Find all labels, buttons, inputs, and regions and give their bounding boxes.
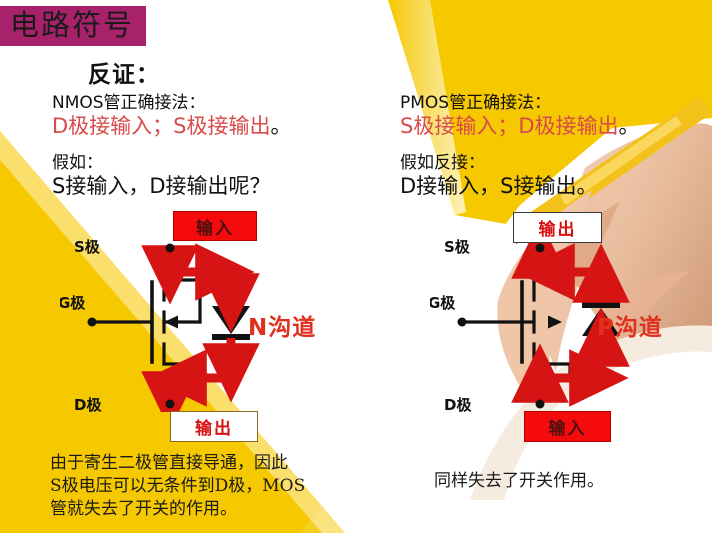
page-title-text: 电路符号	[10, 8, 134, 42]
right-line-2-a: S极接输入；	[400, 114, 518, 138]
input-box-right: 输入	[524, 411, 611, 442]
input-box-left: 输入	[173, 211, 257, 241]
nmos-symbol	[92, 280, 200, 372]
pin-label-g: G极	[60, 294, 86, 312]
page-title: 电路符号	[0, 6, 146, 46]
pin-label-d: D极	[74, 396, 102, 412]
source-node-dot	[166, 244, 175, 253]
channel-label-p: P沟道	[597, 308, 663, 342]
drain-node-dot	[536, 400, 545, 409]
right-line-2-b: D极接输出	[518, 114, 618, 138]
pin-label-s: S极	[74, 238, 101, 256]
right-line-4: D接输入，S接输出。	[400, 170, 598, 200]
parasitic-diode-n	[212, 306, 250, 340]
left-line-2-c: 。	[271, 114, 292, 138]
slide-canvas: 电路符号 反证： NMOS管正确接法： D极接输入；S极接输出。 假如： S接输…	[0, 0, 712, 533]
drain-node-dot	[166, 400, 175, 409]
left-line-2-b: S极接输出	[173, 114, 270, 138]
left-line-4: S接输入，D接输出呢？	[52, 170, 271, 200]
right-line-2: S极接输入；D极接输出。	[400, 110, 640, 140]
output-box-right: 输出	[513, 212, 602, 243]
footer-left: 由于寄生二极管直接导通，因此 S极电压可以无条件到D极，MOS 管就失去了开关的…	[50, 452, 305, 521]
footer-right: 同样失去了开关作用。	[434, 470, 604, 493]
body-arrow-p	[548, 316, 562, 329]
gate-node-dot	[458, 318, 467, 327]
output-box-left: 输出	[170, 411, 258, 442]
section-heading: 反证：	[88, 55, 160, 89]
gate-node-dot	[88, 318, 97, 327]
pin-label-s: S极	[444, 238, 471, 256]
right-line-2-c: 。	[619, 114, 640, 138]
pin-label-g: G极	[430, 294, 456, 312]
pin-label-d: D极	[444, 396, 472, 412]
left-line-2: D极接输入；S极接输出。	[52, 110, 292, 140]
source-node-dot	[536, 244, 545, 253]
body-arrow-n	[164, 316, 178, 329]
left-line-2-a: D极接输入；	[52, 114, 173, 138]
channel-label-n: N沟道	[248, 308, 316, 342]
